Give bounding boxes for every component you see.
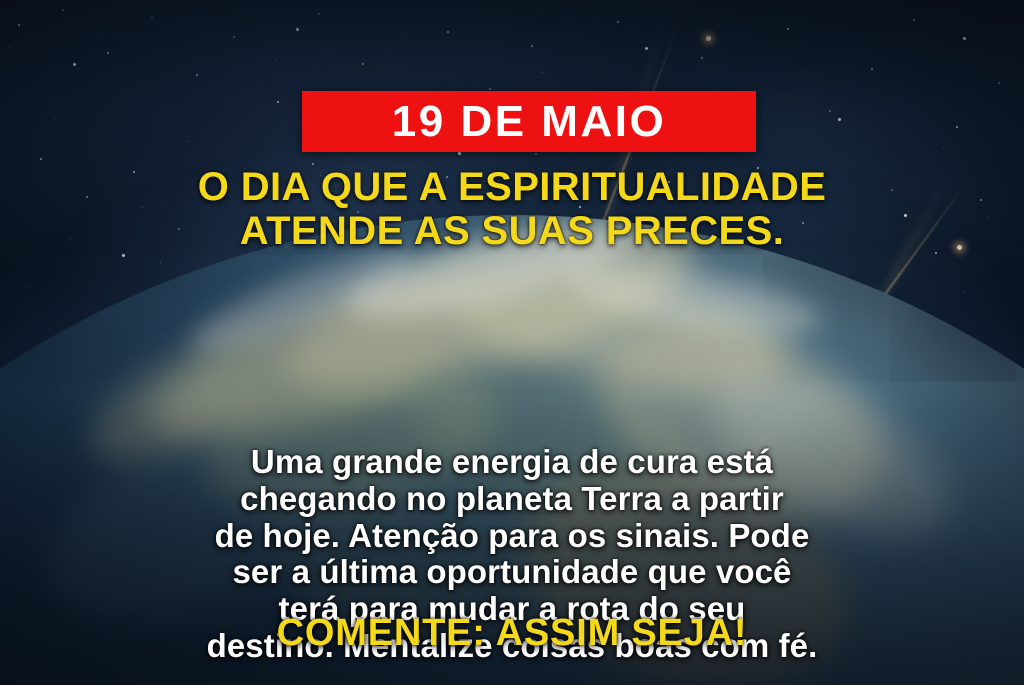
date-banner-label: 19 DE MAIO bbox=[392, 100, 666, 144]
headline-line-1: O DIA QUE A ESPIRITUALIDADE bbox=[198, 165, 827, 209]
body-line-1: Uma grande energia de cura está bbox=[0, 444, 1024, 481]
headline-line-2: ATENDE AS SUAS PRECES. bbox=[0, 210, 1024, 254]
poster-content: 19 DE MAIO O DIA QUE A ESPIRITUALIDADE A… bbox=[0, 0, 1024, 685]
poster-canvas: 19 DE MAIO O DIA QUE A ESPIRITUALIDADE A… bbox=[0, 0, 1024, 685]
body-line-4: ser a última oportunidade que você bbox=[0, 554, 1024, 591]
call-to-action: COMENTE: ASSIM SEJA! bbox=[0, 614, 1024, 652]
date-banner: 19 DE MAIO bbox=[302, 91, 756, 152]
body-line-2: chegando no planeta Terra a partir bbox=[0, 481, 1024, 518]
headline: O DIA QUE A ESPIRITUALIDADE ATENDE AS SU… bbox=[0, 166, 1024, 253]
body-line-3: de hoje. Atenção para os sinais. Pode bbox=[0, 518, 1024, 555]
